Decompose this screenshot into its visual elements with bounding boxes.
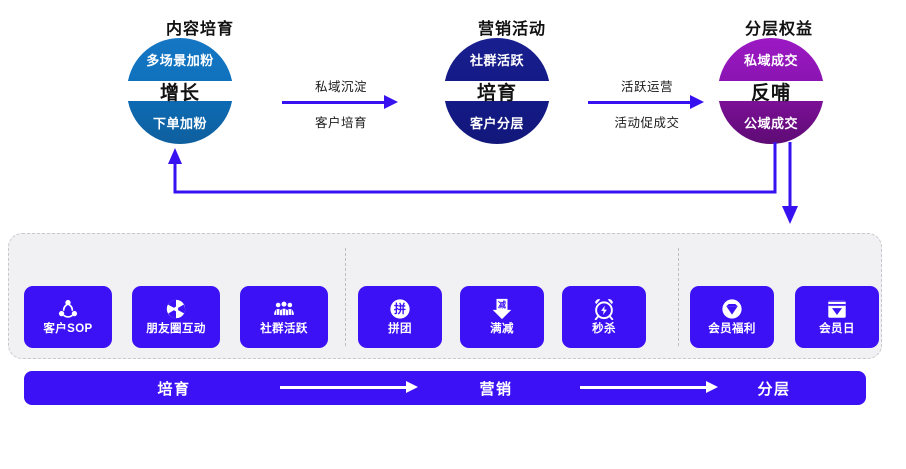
flow-arrow-2-head-icon [690,95,704,109]
alarm-clock-flash-icon [593,298,615,320]
share-network-icon [57,298,79,320]
capability-card-member-benefit[interactable]: 会员福利 [690,286,774,348]
flow-circle-feedback[interactable]: 私域成交 公域成交 反哺 [718,38,824,144]
section-title-marketing: 营销活动 [352,15,672,39]
card-label: 社群活跃 [260,324,308,336]
diamond-card-icon [826,298,848,320]
card-label: 客户SOP [43,324,92,336]
flow-arrow-2: 活跃运营 活动促成交 [588,74,712,134]
stage-arrow-2-head [706,381,718,393]
card-label: 秒杀 [592,324,616,336]
feedback-down-arrow-icon [782,142,798,224]
stage-arrow-1-line [280,386,408,389]
flow-arrow-1-bottom-label: 客户培育 [282,112,400,131]
circle-center-label: 培育 [444,74,550,108]
stage-label-tiering: 分层 [734,371,814,405]
capability-card-group-buy[interactable]: 拼 拼团 [358,286,442,348]
section-title-tiering: 分层权益 [684,15,874,39]
stage-arrow-2-line [580,386,708,389]
capability-card-flash-sale[interactable]: 秒杀 [562,286,646,348]
flow-arrow-1-line [282,101,386,104]
feedback-loop-path-icon [168,142,775,192]
circle-center-label: 增长 [127,74,233,108]
stage-label-marketing: 营销 [456,371,536,405]
card-label: 朋友圈互动 [146,324,206,336]
flow-arrow-1: 私域沉淀 客户培育 [282,74,406,134]
flow-arrow-2-line [588,101,692,104]
flow-arrow-2-bottom-label: 活动促成交 [588,112,706,131]
capability-card-community-active[interactable]: 社群活跃 [240,286,328,348]
flow-circle-growth[interactable]: 多场景加粉 下单加粉 增长 [127,38,233,144]
stage-progress-bar: 培育 营销 分层 [24,371,866,405]
feedback-loop-group [150,140,830,235]
diagram-canvas: 多场景加粉 下单加粉 增长 社群活跃 客户分层 培育 私域成交 公域成交 反哺 … [0,0,906,469]
camera-aperture-icon [165,298,187,320]
card-label: 会员福利 [708,324,756,336]
card-label: 拼团 [388,324,412,336]
section-title-content: 内容培育 [60,15,340,39]
discount-down-arrow-icon: 减 [491,298,513,320]
card-label: 满减 [490,324,514,336]
flow-arrow-1-top-label: 私域沉淀 [282,76,400,95]
capability-card-customer-sop[interactable]: 客户SOP [24,286,112,348]
group-buy-glyph: 拼 [394,302,406,316]
flow-circle-nurture[interactable]: 社群活跃 客户分层 培育 [444,38,550,144]
stage-label-nurture: 培育 [134,371,214,405]
group-people-icon [273,298,295,320]
card-label: 会员日 [819,324,855,336]
capability-card-moments-interaction[interactable]: 朋友圈互动 [132,286,220,348]
capability-card-discount[interactable]: 减 满减 [460,286,544,348]
section-divider [345,248,346,346]
stage-arrow-1-icon [280,381,420,394]
capability-card-member-day[interactable]: 会员日 [795,286,879,348]
discount-glyph: 减 [498,300,506,310]
diamond-badge-icon [721,298,743,320]
stage-arrow-1-head [406,381,418,393]
group-buy-icon: 拼 [389,298,411,320]
circle-center-label: 反哺 [718,74,824,108]
stage-arrow-2-icon [580,381,720,394]
flow-arrow-2-top-label: 活跃运营 [588,76,706,95]
flow-arrow-1-head-icon [384,95,398,109]
section-divider [678,248,679,346]
